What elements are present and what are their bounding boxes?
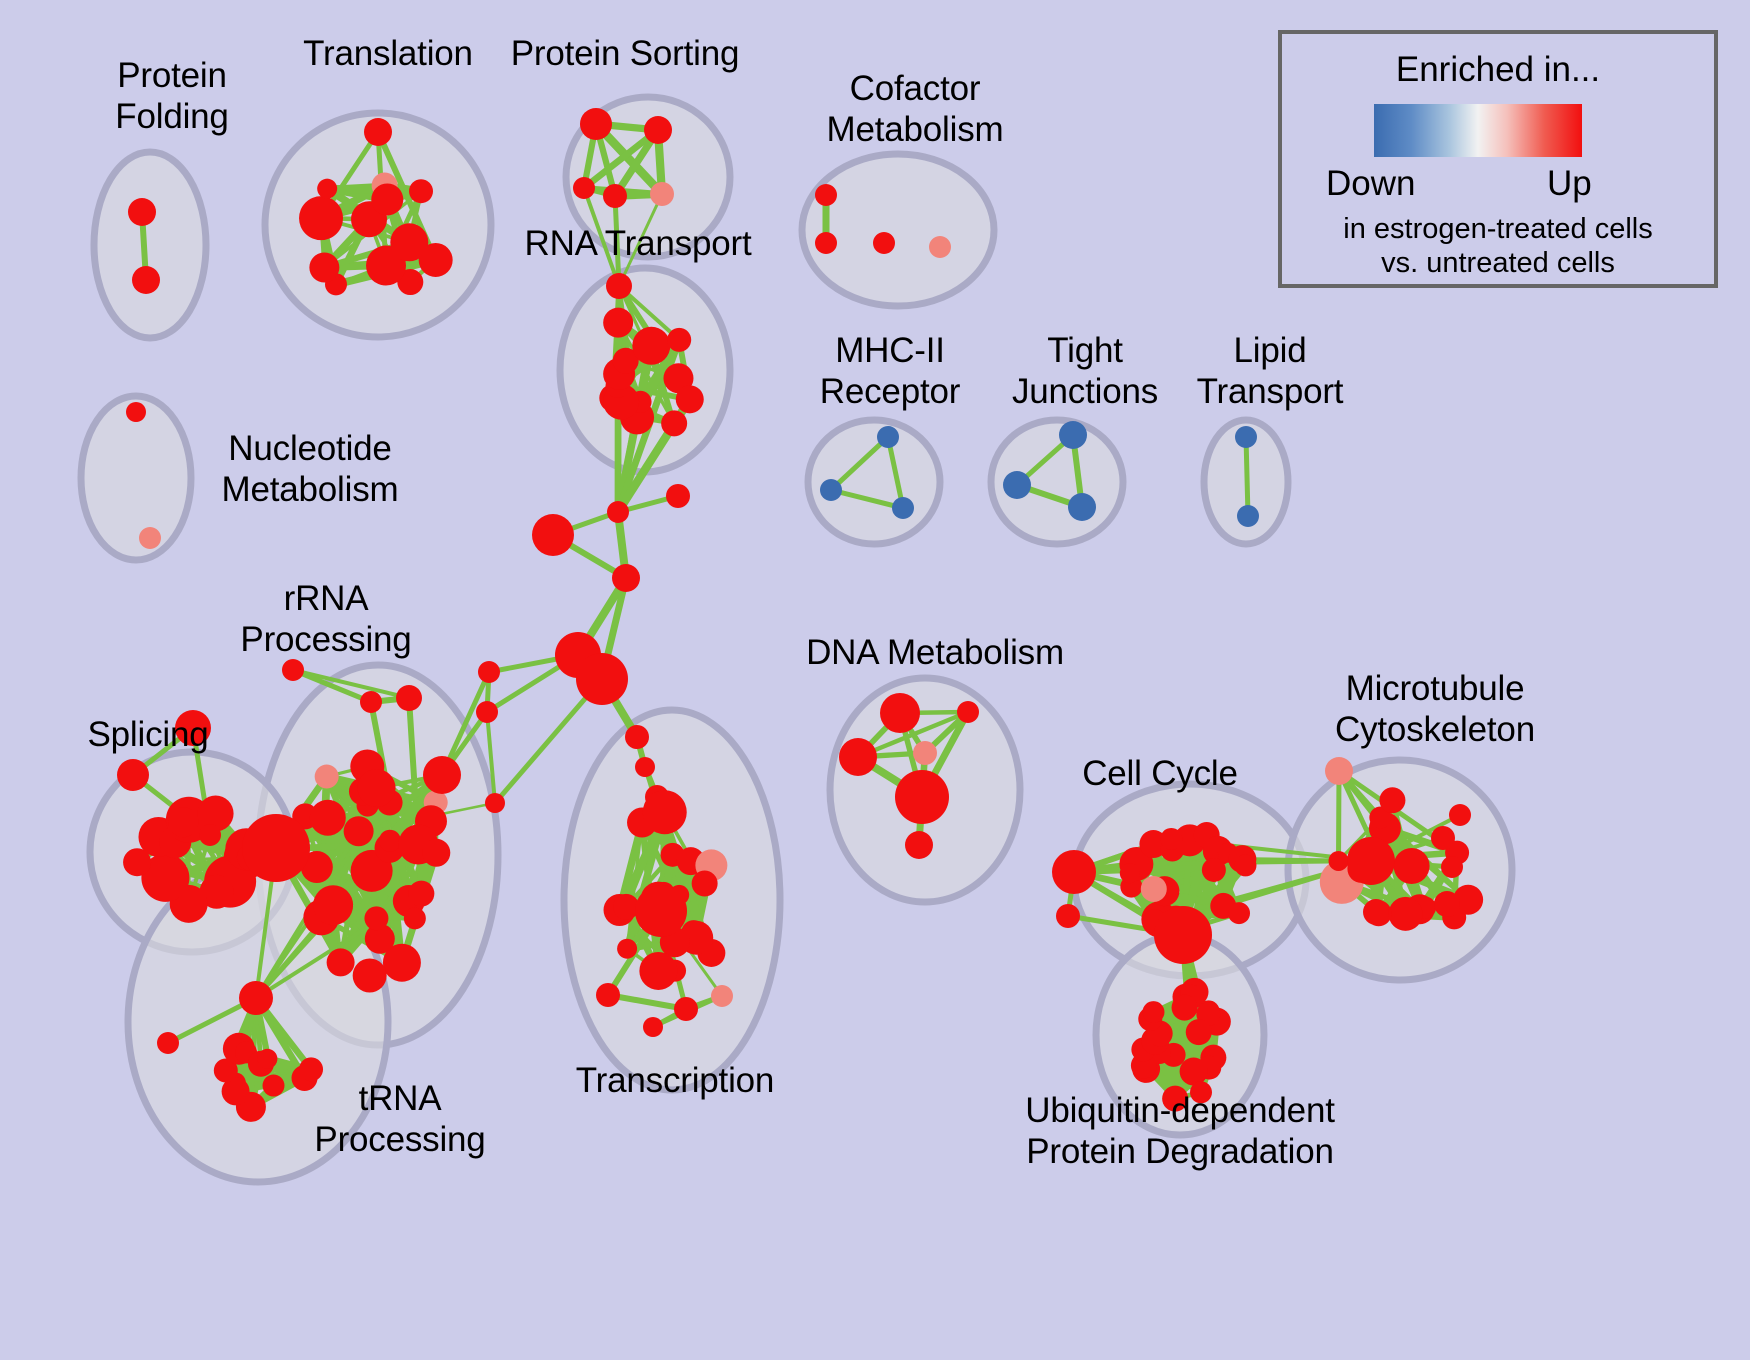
node bbox=[364, 118, 392, 146]
node bbox=[643, 790, 687, 834]
node bbox=[644, 116, 672, 144]
node bbox=[364, 906, 388, 930]
legend-color-bar bbox=[1374, 104, 1582, 157]
node bbox=[1329, 851, 1349, 871]
cluster-label-tight-junctions: Tight Junctions bbox=[985, 330, 1185, 412]
node bbox=[409, 179, 433, 203]
node bbox=[117, 759, 149, 791]
node bbox=[139, 527, 161, 549]
node bbox=[422, 839, 450, 867]
cluster-label-protein-sorting: Protein Sorting bbox=[490, 33, 760, 74]
cluster-label-lipid-transport: Lipid Transport bbox=[1170, 330, 1370, 412]
node bbox=[639, 952, 677, 990]
node bbox=[839, 738, 877, 776]
node bbox=[1052, 850, 1096, 894]
node bbox=[317, 179, 337, 199]
node bbox=[353, 958, 387, 992]
node bbox=[299, 196, 343, 240]
node bbox=[263, 1075, 285, 1097]
node bbox=[1234, 854, 1256, 876]
node bbox=[1056, 904, 1080, 928]
node bbox=[390, 223, 428, 261]
node bbox=[423, 756, 461, 794]
node bbox=[676, 385, 704, 413]
edge bbox=[1246, 437, 1248, 516]
node bbox=[815, 232, 837, 254]
node bbox=[1172, 995, 1198, 1021]
node bbox=[815, 184, 837, 206]
node bbox=[674, 997, 698, 1021]
node bbox=[1160, 828, 1182, 850]
cluster-ellipse-protein-folding bbox=[94, 152, 206, 338]
node bbox=[199, 824, 221, 846]
legend-title: Enriched in... bbox=[1282, 50, 1714, 90]
node bbox=[1431, 826, 1455, 850]
node bbox=[310, 800, 346, 836]
node bbox=[661, 410, 687, 436]
cluster-label-transcription: Transcription bbox=[560, 1060, 790, 1101]
node bbox=[913, 741, 937, 765]
cluster-label-nucleotide-metabolism: Nucleotide Metabolism bbox=[185, 428, 435, 510]
node bbox=[327, 948, 355, 976]
node bbox=[128, 198, 156, 226]
node bbox=[1142, 1001, 1164, 1023]
node bbox=[635, 885, 687, 937]
node bbox=[880, 693, 920, 733]
node bbox=[1389, 897, 1423, 931]
node bbox=[632, 327, 670, 365]
node bbox=[1141, 876, 1167, 902]
cluster-label-mhc-ii-receptor: MHC-II Receptor bbox=[790, 330, 990, 412]
cluster-label-dna-metabolism: DNA Metabolism bbox=[795, 632, 1075, 673]
node bbox=[132, 266, 160, 294]
node bbox=[478, 661, 500, 683]
node bbox=[358, 769, 396, 807]
node bbox=[1379, 787, 1405, 813]
node bbox=[603, 184, 627, 208]
cluster-label-cell-cycle: Cell Cycle bbox=[1050, 753, 1270, 794]
node bbox=[257, 1049, 277, 1069]
node bbox=[1441, 856, 1463, 878]
node bbox=[666, 484, 690, 508]
node bbox=[957, 701, 979, 723]
cluster-ellipse-cofactor-metabolism bbox=[802, 154, 994, 306]
node bbox=[1434, 891, 1460, 917]
cluster-label-translation: Translation bbox=[268, 33, 508, 74]
node bbox=[476, 701, 498, 723]
node bbox=[168, 807, 198, 837]
node bbox=[1228, 902, 1250, 924]
node bbox=[643, 1017, 663, 1037]
node bbox=[1180, 1058, 1208, 1086]
node bbox=[573, 177, 595, 199]
node bbox=[371, 183, 403, 215]
node bbox=[315, 765, 339, 789]
node bbox=[1003, 471, 1031, 499]
node bbox=[612, 564, 640, 592]
node bbox=[404, 907, 426, 929]
node bbox=[603, 308, 633, 338]
node bbox=[344, 816, 374, 846]
node bbox=[239, 981, 273, 1015]
node bbox=[929, 236, 951, 258]
node bbox=[396, 685, 422, 711]
node bbox=[1394, 848, 1430, 884]
node bbox=[1235, 426, 1257, 448]
node bbox=[873, 232, 895, 254]
legend-subtitle: in estrogen-treated cells vs. untreated … bbox=[1282, 212, 1714, 280]
node bbox=[607, 501, 629, 523]
node bbox=[1363, 899, 1389, 925]
node bbox=[892, 497, 914, 519]
cluster-label-splicing: Splicing bbox=[58, 714, 238, 755]
node bbox=[157, 1032, 179, 1054]
node bbox=[313, 885, 353, 925]
node bbox=[617, 939, 637, 959]
legend-up-label: Up bbox=[1547, 164, 1592, 204]
node bbox=[905, 831, 933, 859]
node bbox=[1347, 837, 1395, 885]
cluster-label-microtubule-cytoskeleton: Microtubule Cytoskeleton bbox=[1300, 668, 1570, 750]
node bbox=[625, 725, 649, 749]
node bbox=[282, 659, 304, 681]
node bbox=[635, 757, 655, 777]
node bbox=[1059, 421, 1087, 449]
node bbox=[711, 985, 733, 1007]
cluster-label-rrna-processing: rRNA Processing bbox=[226, 578, 426, 660]
node bbox=[820, 479, 842, 501]
node bbox=[895, 770, 949, 824]
node bbox=[1449, 804, 1471, 826]
node bbox=[309, 252, 339, 282]
node bbox=[485, 793, 505, 813]
cluster-label-protein-folding: Protein Folding bbox=[62, 55, 282, 137]
cluster-label-trna-processing: tRNA Processing bbox=[300, 1078, 500, 1160]
node bbox=[576, 653, 628, 705]
node bbox=[1202, 858, 1226, 882]
node bbox=[877, 426, 899, 448]
node bbox=[580, 108, 612, 140]
node bbox=[126, 402, 146, 422]
node bbox=[408, 881, 434, 907]
node bbox=[1325, 757, 1353, 785]
node bbox=[606, 273, 632, 299]
cluster-label-cofactor-metabolism: Cofactor Metabolism bbox=[790, 68, 1040, 150]
node bbox=[379, 830, 401, 852]
node bbox=[650, 182, 674, 206]
node bbox=[667, 328, 691, 352]
node bbox=[1068, 493, 1096, 521]
legend-down-label: Down bbox=[1326, 164, 1415, 204]
node bbox=[1186, 1019, 1212, 1045]
node bbox=[532, 514, 574, 556]
node bbox=[242, 814, 310, 882]
node bbox=[596, 983, 620, 1007]
node bbox=[1237, 505, 1259, 527]
cluster-label-ubiquitin-degradation: Ubiquitin-dependent Protein Degradation bbox=[980, 1090, 1380, 1172]
legend-box: Enriched in... Down Up in estrogen-treat… bbox=[1278, 30, 1718, 288]
node bbox=[1154, 906, 1212, 964]
network-figure: Protein FoldingTranslationProtein Sortin… bbox=[0, 0, 1750, 1360]
node bbox=[692, 871, 718, 897]
node bbox=[360, 691, 382, 713]
node bbox=[613, 894, 639, 920]
cluster-label-rna-transport: RNA Transport bbox=[508, 223, 768, 264]
node bbox=[1120, 863, 1140, 883]
